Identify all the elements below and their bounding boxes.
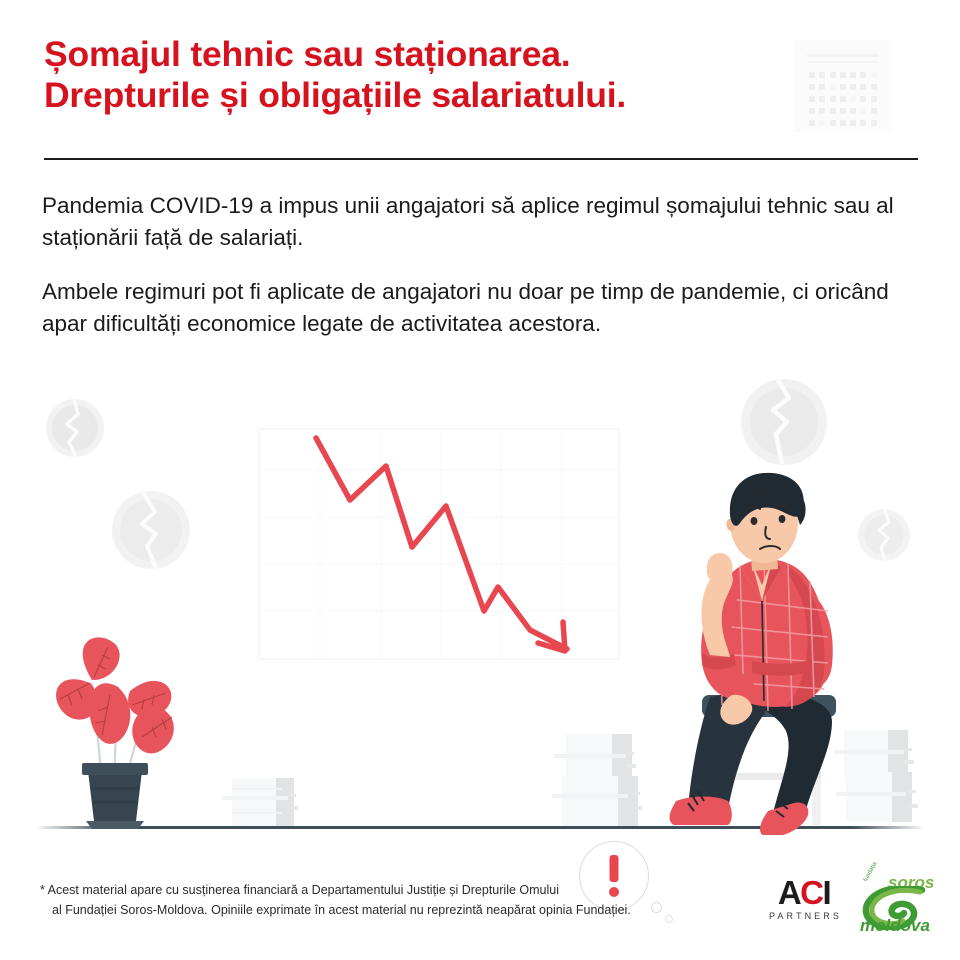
aci-partners-logo: ACI PARTNERS xyxy=(762,876,846,923)
calendar-dot xyxy=(819,120,825,126)
calendar-dot xyxy=(860,120,866,126)
calendar-dot xyxy=(809,84,815,90)
header-divider xyxy=(44,158,918,160)
calendar-dot xyxy=(819,108,825,114)
broken-coin-small-left xyxy=(45,398,105,458)
aci-letter-i: I xyxy=(823,874,831,911)
calendar-dot xyxy=(809,120,815,126)
broken-coin-large-right xyxy=(740,378,828,466)
calendar-dot xyxy=(860,84,866,90)
title-line-1: Șomajul tehnic sau staționarea. xyxy=(44,34,784,75)
calendar-subtitle-bar xyxy=(807,61,879,63)
aci-subtitle: PARTNERS xyxy=(762,910,846,923)
calendar-dot xyxy=(830,108,836,114)
calendar-dot xyxy=(840,72,846,78)
page-title: Șomajul tehnic sau staționarea. Drepturi… xyxy=(44,34,784,116)
paper-stack-left xyxy=(216,750,312,833)
body-copy: Pandemia COVID-19 a impus unii angajator… xyxy=(42,190,924,362)
calendar-dot xyxy=(860,96,866,102)
exclamation-bar-icon xyxy=(610,855,619,882)
calendar-dot xyxy=(840,84,846,90)
fundatia-label: fundația xyxy=(863,861,878,883)
worried-seated-man xyxy=(636,465,866,840)
calendar-dot xyxy=(809,96,815,102)
aci-letter-c: C xyxy=(800,874,822,911)
calendar-dot xyxy=(819,96,825,102)
aci-wordmark: ACI xyxy=(762,876,846,910)
calendar-dot xyxy=(860,72,866,78)
calendar-dot xyxy=(850,108,856,114)
broken-coin-medium-left xyxy=(111,490,191,570)
calendar-dot xyxy=(819,84,825,90)
aci-letter-a: A xyxy=(778,874,800,911)
calendar-dot xyxy=(871,84,877,90)
calendar-dot xyxy=(871,120,877,126)
calendar-dot xyxy=(830,84,836,90)
calendar-dot xyxy=(840,120,846,126)
calendar-title-bar xyxy=(807,54,879,57)
calendar-dot xyxy=(850,72,856,78)
calendar-dot xyxy=(830,120,836,126)
calendar-dot xyxy=(830,72,836,78)
paragraph-2: Ambele regimuri pot fi aplicate de angaj… xyxy=(42,276,924,340)
soros-moldova-logo: soros fundația moldova xyxy=(856,872,942,938)
calendar-dot xyxy=(840,108,846,114)
calendar-dot xyxy=(871,96,877,102)
chart-line-svg xyxy=(260,430,622,662)
paragraph-1: Pandemia COVID-19 a impus unii angajator… xyxy=(42,190,924,254)
calendar-dot xyxy=(871,72,877,78)
footer-logos: ACI PARTNERS soros fundația moldova xyxy=(762,872,942,942)
calendar-dot xyxy=(830,96,836,102)
calendar-dot xyxy=(809,108,815,114)
declining-line-chart xyxy=(258,428,620,660)
infographic-poster: Șomajul tehnic sau staționarea. Drepturi… xyxy=(0,0,960,960)
title-line-2: Drepturile și obligațiile salariatului. xyxy=(44,75,784,116)
potted-plant xyxy=(42,625,202,840)
calendar-dot xyxy=(871,108,877,114)
calendar-dot-grid xyxy=(809,72,879,130)
illustration-stage xyxy=(0,370,960,860)
calendar-dot xyxy=(840,96,846,102)
disclaimer-line-2: al Fundației Soros-Moldova. Opiniile exp… xyxy=(40,900,680,920)
calendar-dot xyxy=(819,72,825,78)
calendar-grid-icon xyxy=(793,40,893,132)
calendar-dot xyxy=(850,96,856,102)
calendar-dot xyxy=(850,84,856,90)
calendar-dot xyxy=(860,108,866,114)
moldova-wordmark: moldova xyxy=(860,916,930,936)
calendar-dot xyxy=(850,120,856,126)
calendar-dot xyxy=(809,72,815,78)
disclaimer-line-1: * Acest material apare cu susținerea fin… xyxy=(40,880,680,900)
footer-disclaimer: * Acest material apare cu susținerea fin… xyxy=(40,880,680,920)
